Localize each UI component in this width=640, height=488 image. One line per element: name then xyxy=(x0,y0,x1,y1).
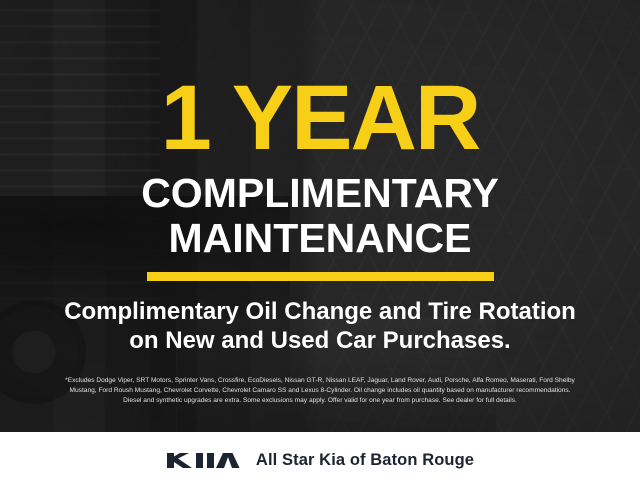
legal-disclaimer: *Excludes Dodge Viper, SRT Motors, Sprin… xyxy=(14,376,626,407)
headline-year: 1 YEAR xyxy=(161,76,480,161)
disclaimer-line-2: Mustang, Ford Roush Mustang, Chevrolet C… xyxy=(14,386,626,396)
offer-description-line-2: on New and Used Car Purchases. xyxy=(129,326,510,355)
yellow-divider-bar xyxy=(147,272,494,281)
headline-complimentary: COMPLIMENTARY xyxy=(141,173,499,214)
dealer-footer: All Star Kia of Baton Rouge xyxy=(0,432,640,488)
hero-content: 1 YEAR COMPLIMENTARY MAINTENANCE Complim… xyxy=(0,0,640,432)
disclaimer-line-1: *Excludes Dodge Viper, SRT Motors, Sprin… xyxy=(14,376,626,386)
kia-logo-icon xyxy=(166,450,240,471)
service-offer-banner: 1 YEAR COMPLIMENTARY MAINTENANCE Complim… xyxy=(0,0,640,488)
hero-background-photo: 1 YEAR COMPLIMENTARY MAINTENANCE Complim… xyxy=(0,0,640,432)
dealer-name: All Star Kia of Baton Rouge xyxy=(256,451,474,470)
disclaimer-line-3: Diesel and synthetic upgrades are extra.… xyxy=(14,396,626,406)
offer-description-line-1: Complimentary Oil Change and Tire Rotati… xyxy=(64,297,576,326)
headline-maintenance: MAINTENANCE xyxy=(169,218,472,259)
